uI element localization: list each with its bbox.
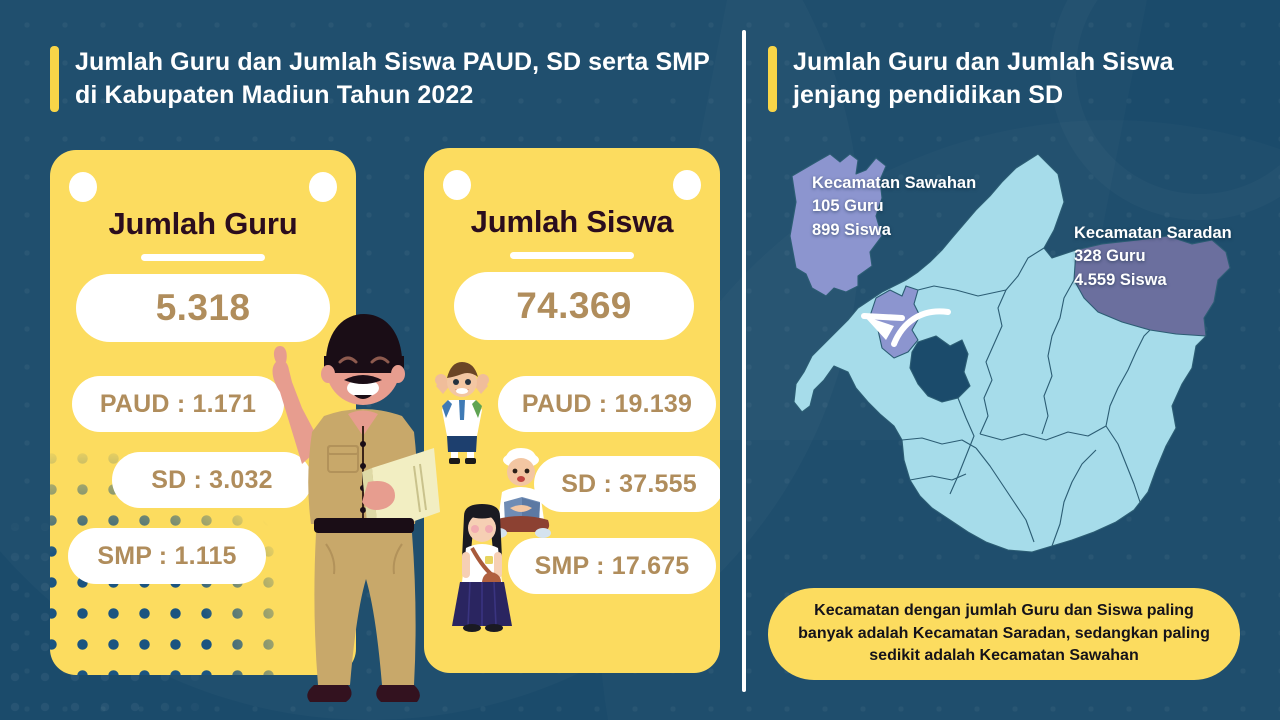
- siswa-smp-row: SMP : 17.675: [508, 538, 716, 594]
- summary-note-box: Kecamatan dengan jumlah Guru dan Siswa p…: [768, 588, 1240, 680]
- infographic-canvas: Jumlah Guru dan Jumlah Siswa PAUD, SD se…: [0, 0, 1280, 720]
- map-label-sawahan: Kecamatan Sawahan 105 Guru 899 Siswa: [812, 172, 976, 242]
- stat-card-jumlah-siswa: Jumlah Siswa 74.369 PAUD : 19.139 SD : 3…: [424, 148, 720, 673]
- map-label-saradan-name: Kecamatan Saradan: [1074, 222, 1232, 245]
- map-label-sawahan-teachers: 105 Guru: [812, 195, 976, 218]
- card-title-underline: [510, 252, 634, 259]
- map-label-sawahan-students: 899 Siswa: [812, 219, 976, 242]
- right-panel-heading: Jumlah Guru dan Jumlah Siswa jenjang pen…: [768, 46, 1238, 112]
- siswa-total-value: 74.369: [454, 272, 694, 340]
- map-label-saradan: Kecamatan Saradan 328 Guru 4.559 Siswa: [1074, 222, 1232, 292]
- guru-smp-row: SMP : 1.115: [68, 528, 266, 584]
- left-panel-heading: Jumlah Guru dan Jumlah Siswa PAUD, SD se…: [50, 46, 710, 112]
- guru-paud-row: PAUD : 1.171: [72, 376, 284, 432]
- right-heading-text: Jumlah Guru dan Jumlah Siswa jenjang pen…: [793, 46, 1238, 112]
- panel-divider: [742, 30, 746, 692]
- map-label-saradan-students: 4.559 Siswa: [1074, 269, 1232, 292]
- card-title-guru: Jumlah Guru: [50, 206, 356, 242]
- guru-sd-row: SD : 3.032: [112, 452, 312, 508]
- card-title-siswa: Jumlah Siswa: [424, 204, 720, 240]
- heading-accent-bar: [50, 46, 59, 112]
- summary-note-text: Kecamatan dengan jumlah Guru dan Siswa p…: [790, 600, 1218, 668]
- punch-hole-right-icon: [309, 172, 337, 202]
- siswa-sd-row: SD : 37.555: [534, 456, 720, 512]
- map-label-sawahan-name: Kecamatan Sawahan: [812, 172, 976, 195]
- punch-hole-left-icon: [69, 172, 97, 202]
- guru-total-value: 5.318: [76, 274, 330, 342]
- map-label-saradan-teachers: 328 Guru: [1074, 245, 1232, 268]
- punch-hole-right-icon: [673, 170, 701, 200]
- stat-card-jumlah-guru: Jumlah Guru 5.318 PAUD : 1.171 SD : 3.03…: [50, 150, 356, 675]
- card-title-underline: [141, 254, 265, 261]
- heading-accent-bar: [768, 46, 777, 112]
- siswa-paud-row: PAUD : 19.139: [498, 376, 716, 432]
- punch-hole-left-icon: [443, 170, 471, 200]
- left-heading-text: Jumlah Guru dan Jumlah Siswa PAUD, SD se…: [75, 46, 710, 112]
